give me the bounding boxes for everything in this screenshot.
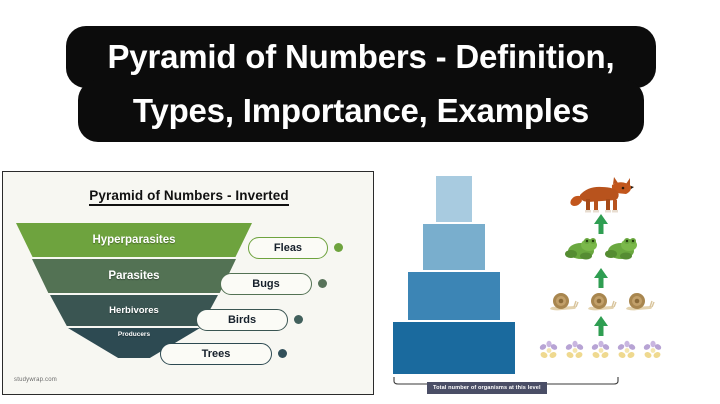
- organism-row-snails: [526, 289, 676, 313]
- inverted-pyramid-heading-text: Pyramid of Numbers - Inverted: [89, 188, 288, 206]
- screenshot-root: Pyramid of Numbers - Definition, Types, …: [0, 0, 720, 404]
- example-pill-label: Trees: [202, 348, 231, 360]
- example-pill-bugs: Bugs: [220, 273, 312, 295]
- flower-icon: [564, 341, 586, 361]
- organism-column: [526, 171, 716, 376]
- tier-marker-dot: [278, 349, 287, 358]
- example-pill-label: Bugs: [252, 278, 280, 290]
- title-line-2: Types, Importance, Examples: [78, 80, 644, 142]
- snail-icon: [548, 291, 578, 313]
- pyramid-tier-label: Parasites: [108, 270, 159, 282]
- watermark: studywrap.com: [14, 377, 57, 383]
- flower-icon: [616, 341, 638, 361]
- snail-icon: [586, 291, 616, 313]
- energy-arrow-up-icon: [590, 213, 612, 235]
- title-banner: Pyramid of Numbers - Definition, Types, …: [0, 22, 720, 147]
- organism-row-fox: [526, 175, 676, 215]
- pyramid-tier-hyperparasites: Hyperparasites: [16, 223, 252, 257]
- flower-icon: [590, 341, 612, 361]
- tier-marker-dot: [334, 243, 343, 252]
- brace-caption: Total number of organisms at this level: [427, 382, 547, 394]
- frog-icon: [604, 235, 638, 261]
- fox-icon: [568, 175, 634, 215]
- blue-step-upper-middle: [422, 223, 486, 271]
- example-pill-fleas: Fleas: [248, 237, 328, 259]
- organism-row-flowers: [526, 339, 676, 361]
- frog-icon: [564, 235, 598, 261]
- pyramid-tier-label: Herbivores: [109, 305, 159, 316]
- organism-row-frogs: [526, 233, 676, 261]
- pyramid-tier-herbivores: Herbivores: [50, 295, 218, 326]
- energy-arrow-up-icon: [590, 267, 612, 289]
- snail-icon: [624, 291, 654, 313]
- example-pill-trees: Trees: [160, 343, 272, 365]
- pyramid-tier-label: Producers: [118, 331, 150, 338]
- blue-step-base: [392, 321, 516, 375]
- pyramid-tier-parasites: Parasites: [32, 259, 236, 293]
- inverted-pyramid-heading: Pyramid of Numbers - Inverted: [3, 188, 375, 203]
- energy-arrow-up-icon: [590, 315, 612, 337]
- flower-icon: [538, 341, 560, 361]
- tier-marker-dot: [294, 315, 303, 324]
- example-pill-label: Birds: [228, 314, 256, 326]
- example-pill-birds: Birds: [196, 309, 288, 331]
- example-pill-label: Fleas: [274, 242, 302, 254]
- number-pyramid-graphic: Total number of organisms at this level: [378, 171, 718, 399]
- tier-marker-dot: [318, 279, 327, 288]
- pyramid-tier-label: Hyperparasites: [92, 234, 175, 246]
- blue-step-lower-middle: [407, 271, 501, 321]
- flower-icon: [642, 341, 664, 361]
- inverted-pyramid-graphic: Hyperparasites Parasites Herbivores Prod…: [16, 223, 252, 363]
- blue-step-top: [435, 175, 473, 223]
- title-line-1: Pyramid of Numbers - Definition,: [66, 26, 656, 88]
